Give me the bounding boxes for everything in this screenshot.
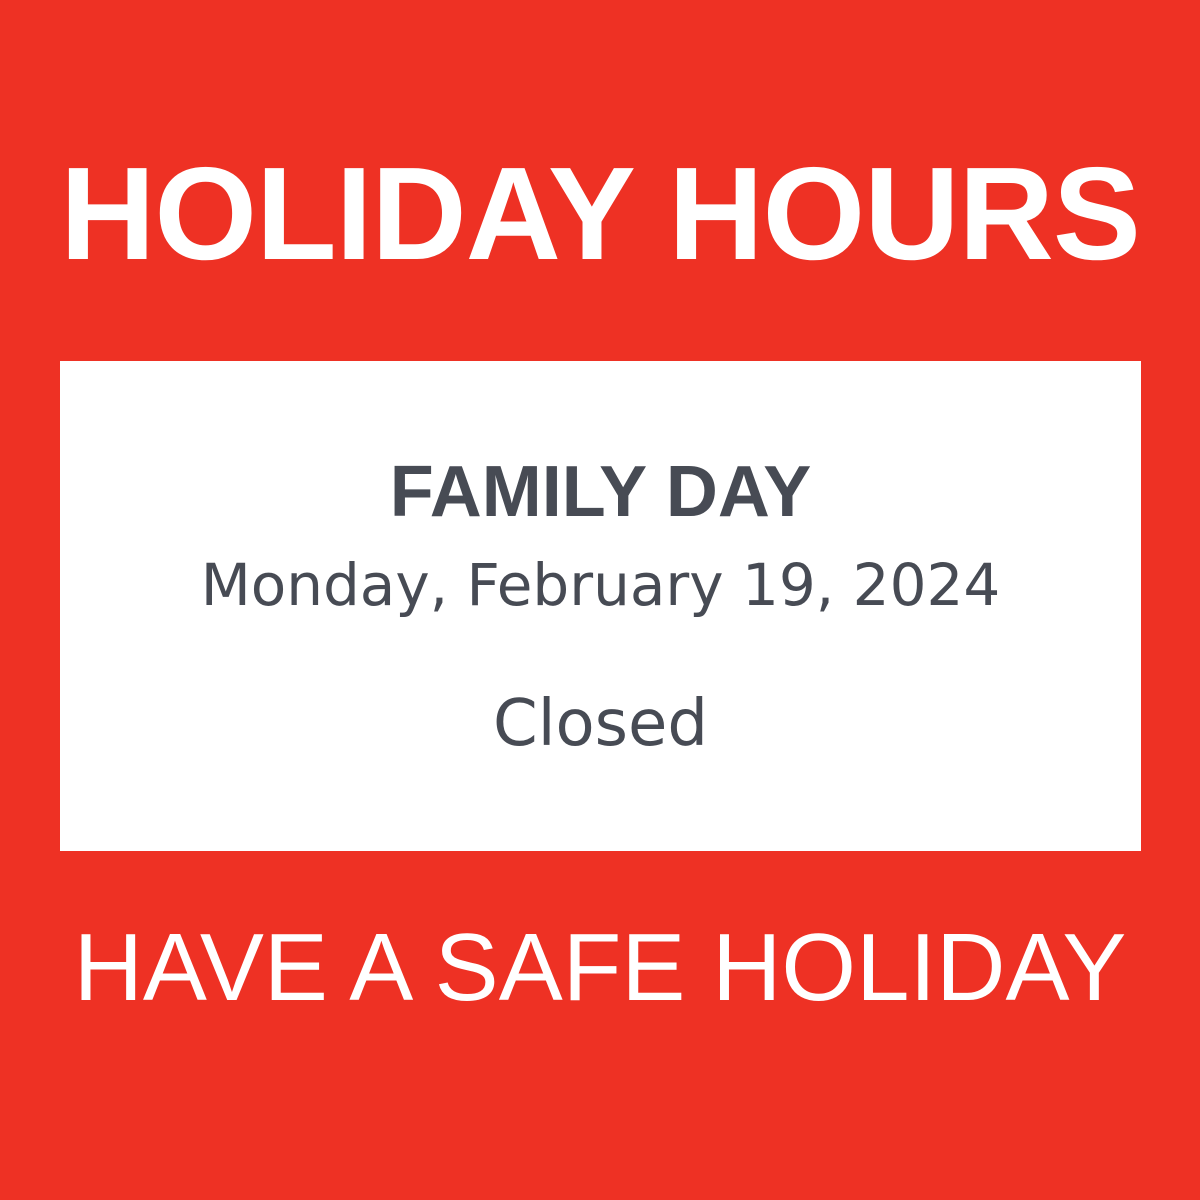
page-title: HOLIDAY HOURS <box>0 148 1200 280</box>
holiday-name: FAMILY DAY <box>390 456 812 528</box>
holiday-info-card-content: FAMILY DAY Monday, February 19, 2024 Clo… <box>60 361 1141 851</box>
holiday-date: Monday, February 19, 2024 <box>201 556 1001 614</box>
holiday-hours-poster: HOLIDAY HOURS FAMILY DAY Monday, Februar… <box>0 0 1200 1200</box>
status-badge: Closed <box>493 692 708 756</box>
holiday-info-card: FAMILY DAY Monday, February 19, 2024 Clo… <box>60 361 1141 851</box>
footer-message: HAVE A SAFE HOLIDAY <box>0 920 1200 1016</box>
